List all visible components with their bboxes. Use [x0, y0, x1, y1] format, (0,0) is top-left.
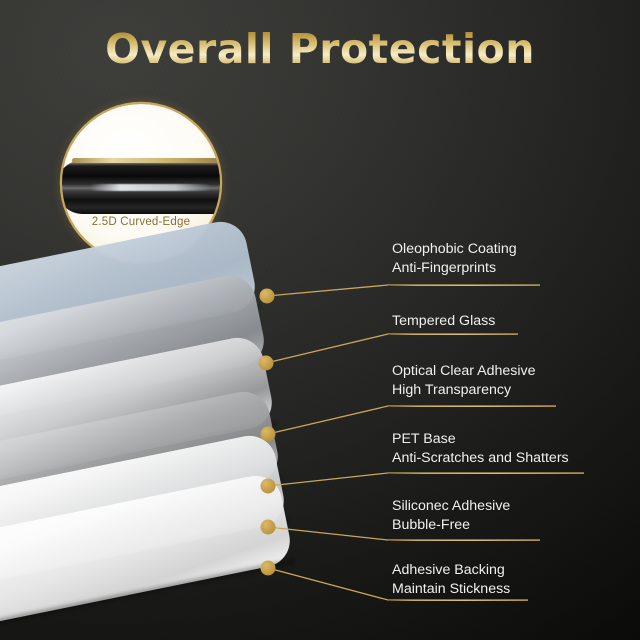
leader-line-pet-base [268, 473, 584, 486]
anchor-dot-siliconec-adhesive [261, 520, 276, 535]
callout-label-line: High Transparency [392, 381, 536, 400]
callout-label-line: Maintain Stickness [392, 580, 510, 599]
callout-label-line: Optical Clear Adhesive [392, 362, 536, 381]
callout-underline-tempered-glass [388, 334, 518, 335]
callout-underline-siliconec-adhesive [388, 540, 540, 541]
leader-line-oleophobic-coating [267, 285, 540, 296]
callout-label-siliconec-adhesive: Siliconec AdhesiveBubble-Free [392, 497, 510, 535]
anchor-dot-pet-base [261, 479, 276, 494]
callout-underline-oleophobic-coating [388, 285, 540, 286]
callout-label-line: Oleophobic Coating [392, 240, 517, 259]
callout-label-pet-base: PET BaseAnti-Scratches and Shatters [392, 430, 569, 468]
callout-label-line: Bubble-Free [392, 516, 510, 535]
callout-underline-adhesive-backing [388, 600, 528, 601]
product-infographic: Overall Protection 2.5D Curved-Edge Oleo… [0, 0, 640, 640]
curved-glass-cross-section [62, 150, 220, 224]
callout-label-line: Tempered Glass [392, 312, 495, 331]
page-title: Overall Protection [0, 25, 640, 73]
callout-label-line: Siliconec Adhesive [392, 497, 510, 516]
callout-label-oleophobic-coating: Oleophobic CoatingAnti-Fingerprints [392, 240, 517, 278]
glass-edge-highlight [90, 184, 212, 191]
callout-underline-optical-clear-adhesive [388, 406, 556, 407]
anchor-dot-tempered-glass [259, 356, 274, 371]
anchor-dot-oleophobic-coating [260, 289, 275, 304]
callout-label-line: Anti-Scratches and Shatters [392, 449, 569, 468]
callout-label-adhesive-backing: Adhesive BackingMaintain Stickness [392, 561, 510, 599]
callout-label-line: PET Base [392, 430, 569, 449]
callout-label-line: Adhesive Backing [392, 561, 510, 580]
callout-label-line: Anti-Fingerprints [392, 259, 517, 278]
anchor-dot-optical-clear-adhesive [261, 427, 276, 442]
callout-label-optical-clear-adhesive: Optical Clear AdhesiveHigh Transparency [392, 362, 536, 400]
anchor-dot-adhesive-backing [261, 561, 276, 576]
callout-underline-pet-base [388, 473, 584, 474]
leader-line-tempered-glass [266, 334, 518, 363]
glass-edge-gold-rim [72, 158, 220, 163]
callout-label-tempered-glass: Tempered Glass [392, 312, 495, 331]
